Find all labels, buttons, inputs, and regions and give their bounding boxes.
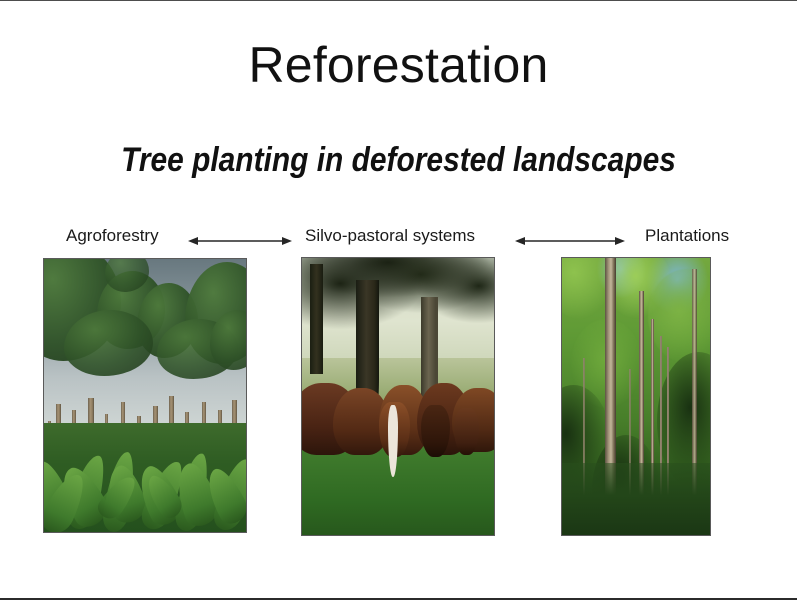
maize-crop-layer	[44, 423, 246, 532]
silvopastoral-photo	[301, 257, 495, 536]
arrow-agroforestry-to-silvopastoral-icon	[188, 235, 292, 247]
forest-floor	[562, 463, 710, 535]
arrow-silvopastoral-to-plantations-icon	[515, 235, 625, 247]
page-subtitle: Tree planting in deforested landscapes	[48, 141, 749, 180]
plantations-photo	[561, 257, 711, 536]
plantations-photo-canvas	[562, 258, 710, 535]
slide-canvas: Reforestation Tree planting in deforeste…	[0, 0, 797, 600]
category-label-agroforestry: Agroforestry	[66, 225, 159, 247]
page-title: Reforestation	[0, 39, 797, 92]
cow-head	[454, 408, 479, 455]
agroforestry-photo	[43, 258, 247, 533]
agroforestry-photo-canvas	[44, 259, 246, 532]
tertiary-tree-trunk	[310, 264, 323, 375]
silvopastoral-photo-canvas	[302, 258, 494, 535]
cow-head	[421, 405, 450, 458]
category-label-row: Agroforestry Silvo-pastoral systems Plan…	[0, 225, 797, 251]
category-label-plantations: Plantations	[645, 225, 729, 247]
category-label-silvopastoral: Silvo-pastoral systems	[305, 225, 475, 247]
